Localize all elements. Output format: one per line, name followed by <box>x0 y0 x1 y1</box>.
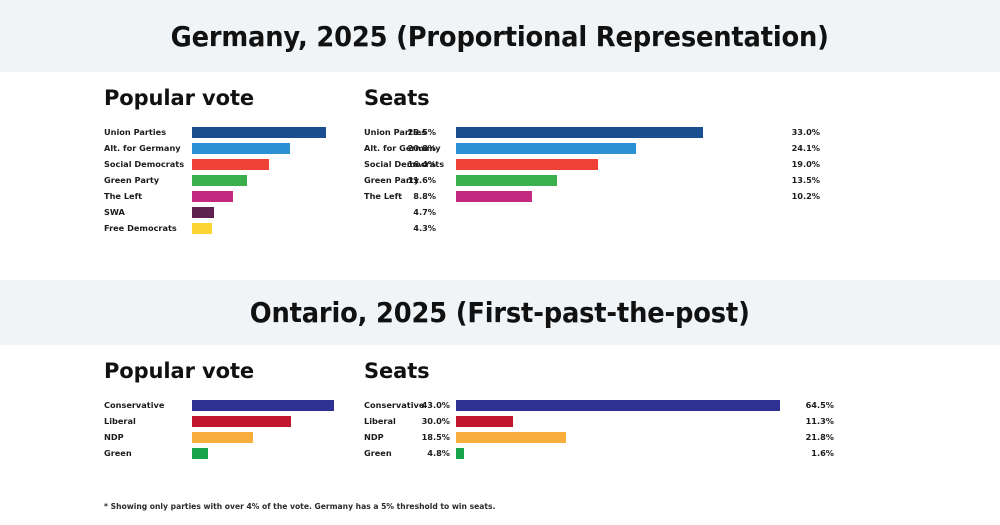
bar-fill <box>456 416 513 427</box>
bar-track <box>456 124 770 140</box>
panel-title-seats: Seats <box>364 359 916 383</box>
bar-chart-germany-popular-vote: Union Parties28.5%Alt. for Germany20.8%S… <box>104 124 356 236</box>
bar-fill <box>456 175 557 186</box>
bar-row-label: Union Parties <box>104 124 192 140</box>
bar-row-value: 10.2% <box>770 188 820 204</box>
bar-fill <box>192 400 334 411</box>
bar-row: Social Democrats19.0% <box>364 156 916 172</box>
bar-track <box>192 140 390 156</box>
bar-track <box>456 140 770 156</box>
panel-title-popular-vote: Popular vote <box>104 359 356 383</box>
panel-title-popular-vote: Popular vote <box>104 86 356 110</box>
bar-track <box>192 397 410 413</box>
bar-chart-ontario-seats: Conservative64.5%Liberal11.3%NDP21.8%Gre… <box>364 397 916 461</box>
section-body-germany: Popular vote Union Parties28.5%Alt. for … <box>0 72 1000 280</box>
bar-fill <box>192 143 290 154</box>
bar-track <box>456 445 788 461</box>
bar-row-label: Social Democrats <box>104 156 192 172</box>
bar-row: Green4.8% <box>104 445 356 461</box>
bar-row: Conservative64.5% <box>364 397 916 413</box>
bar-row: Liberal11.3% <box>364 413 916 429</box>
bar-row: Conservative43.0% <box>104 397 356 413</box>
panel-germany-popular-vote: Popular vote Union Parties28.5%Alt. for … <box>0 86 356 236</box>
bar-track <box>192 204 390 220</box>
panels-ontario: Popular vote Conservative43.0%Liberal30.… <box>0 359 1000 461</box>
infographic-page: Germany, 2025 (Proportional Representati… <box>0 0 1000 525</box>
bar-row: Union Parties28.5% <box>104 124 356 140</box>
bar-row-value: 21.8% <box>788 429 834 445</box>
bar-row: Green1.6% <box>364 445 916 461</box>
bar-track <box>192 124 390 140</box>
bar-row: Green Party11.6% <box>104 172 356 188</box>
bar-fill <box>456 191 532 202</box>
bar-row-label: Green Party <box>104 172 192 188</box>
bar-fill <box>192 191 233 202</box>
bar-track <box>192 172 390 188</box>
bar-track <box>192 413 410 429</box>
bar-track <box>456 172 770 188</box>
bar-row-label: SWA <box>104 204 192 220</box>
bar-row-label: The Left <box>104 188 192 204</box>
bar-track <box>192 220 390 236</box>
bar-row: Free Democrats4.3% <box>104 220 356 236</box>
bar-row-value: 24.1% <box>770 140 820 156</box>
panel-ontario-seats: Seats Conservative64.5%Liberal11.3%NDP21… <box>356 359 916 461</box>
bar-track <box>192 188 390 204</box>
section-body-ontario: Popular vote Conservative43.0%Liberal30.… <box>0 345 1000 525</box>
panel-ontario-popular-vote: Popular vote Conservative43.0%Liberal30.… <box>0 359 356 461</box>
bar-row-label: NDP <box>104 429 192 445</box>
bar-fill <box>456 448 464 459</box>
bar-row: NDP21.8% <box>364 429 916 445</box>
bar-chart-ontario-popular-vote: Conservative43.0%Liberal30.0%NDP18.5%Gre… <box>104 397 356 461</box>
bar-track <box>192 429 410 445</box>
bar-row: SWA4.7% <box>104 204 356 220</box>
bar-fill <box>192 207 214 218</box>
bar-track <box>456 156 770 172</box>
bar-fill <box>456 127 703 138</box>
bar-track <box>456 413 788 429</box>
bar-row: Social Democrats16.4% <box>104 156 356 172</box>
panels-germany: Popular vote Union Parties28.5%Alt. for … <box>0 86 1000 236</box>
bar-row-value: 11.3% <box>788 413 834 429</box>
bar-row-label: Free Democrats <box>104 220 192 236</box>
bar-fill <box>192 127 326 138</box>
bar-row-value: 13.5% <box>770 172 820 188</box>
bar-track <box>456 397 788 413</box>
bar-row: Liberal30.0% <box>104 413 356 429</box>
bar-fill <box>192 448 208 459</box>
section-title-ontario: Ontario, 2025 (First-past-the-post) <box>250 296 750 329</box>
bar-row-label: Green <box>104 445 192 461</box>
bar-fill <box>456 432 566 443</box>
bar-row: Alt. for Germany20.8% <box>104 140 356 156</box>
bar-row-value: 33.0% <box>770 124 820 140</box>
bar-fill <box>192 159 269 170</box>
bar-fill <box>192 175 247 186</box>
bar-fill <box>192 223 212 234</box>
bar-row: NDP18.5% <box>104 429 356 445</box>
bar-row-value: 64.5% <box>788 397 834 413</box>
section-title-germany: Germany, 2025 (Proportional Representati… <box>171 20 829 53</box>
bar-track <box>192 445 410 461</box>
bar-row-value: 1.6% <box>788 445 834 461</box>
panel-title-seats: Seats <box>364 86 916 110</box>
bar-track <box>192 156 390 172</box>
footnote-text: * Showing only parties with over 4% of t… <box>104 502 495 511</box>
bar-row: The Left10.2% <box>364 188 916 204</box>
bar-row: Alt. for Germany24.1% <box>364 140 916 156</box>
bar-row-label: Alt. for Germany <box>104 140 192 156</box>
bar-fill <box>192 416 291 427</box>
section-banner-germany: Germany, 2025 (Proportional Representati… <box>0 0 1000 72</box>
bar-row: Green Party13.5% <box>364 172 916 188</box>
bar-row: Union Parties33.0% <box>364 124 916 140</box>
bar-row: The Left8.8% <box>104 188 356 204</box>
bar-fill <box>192 432 253 443</box>
bar-row-value: 19.0% <box>770 156 820 172</box>
bar-row-label: Conservative <box>104 397 192 413</box>
panel-germany-seats: Seats Union Parties33.0%Alt. for Germany… <box>356 86 916 236</box>
bar-track <box>456 188 770 204</box>
bar-fill <box>456 159 598 170</box>
section-banner-ontario: Ontario, 2025 (First-past-the-post) <box>0 280 1000 345</box>
bar-fill <box>456 143 636 154</box>
bar-row-label: Liberal <box>104 413 192 429</box>
bar-fill <box>456 400 780 411</box>
bar-track <box>456 429 788 445</box>
bar-chart-germany-seats: Union Parties33.0%Alt. for Germany24.1%S… <box>364 124 916 204</box>
